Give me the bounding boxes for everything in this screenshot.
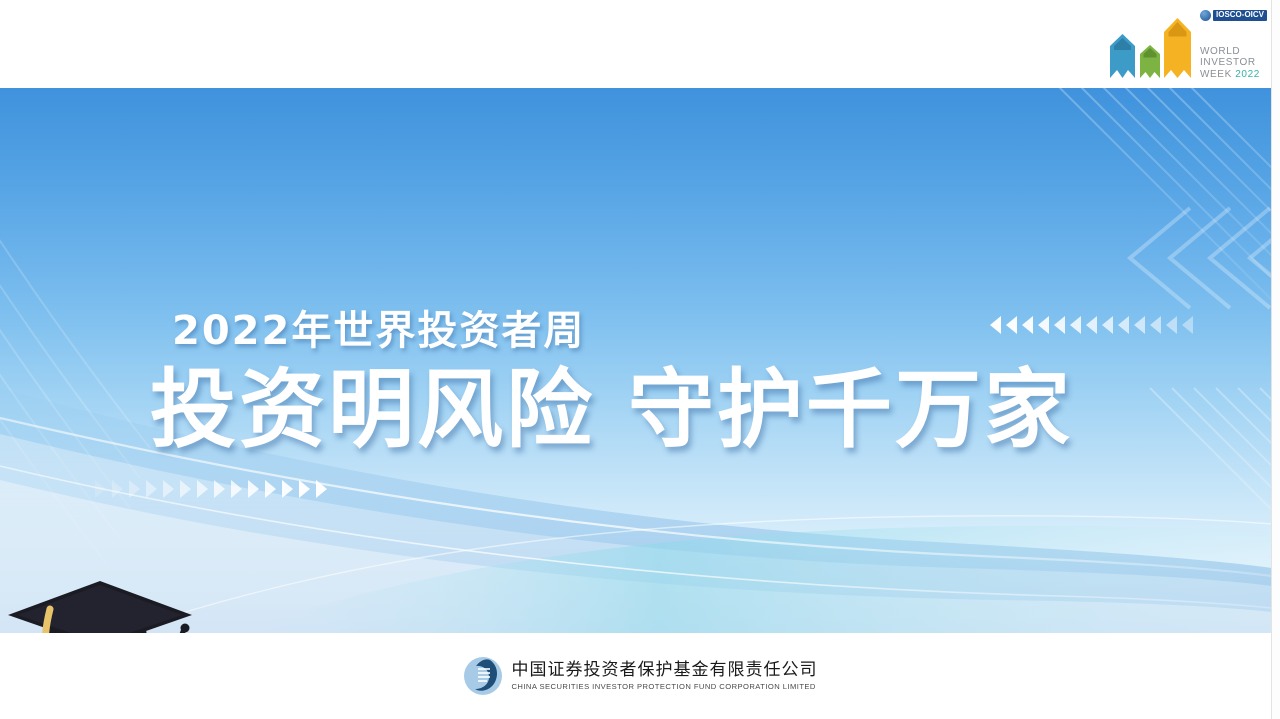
company-name-en: CHINA SECURITIES INVESTOR PROTECTION FUN… bbox=[512, 681, 818, 692]
mascot-teacher-illustration bbox=[0, 573, 206, 633]
world-investor-week-text: WORLD INVESTOR WEEK 2022 bbox=[1200, 46, 1270, 81]
chevron-right-icon bbox=[163, 480, 174, 498]
tassel bbox=[45, 609, 50, 633]
chevron-right-icon bbox=[282, 480, 293, 498]
company-logo-block: 中国证券投资者保护基金有限责任公司 CHINA SECURITIES INVES… bbox=[463, 656, 818, 696]
pencil-yellow-icon bbox=[1164, 18, 1191, 78]
chevron-row-left bbox=[990, 316, 1193, 334]
ghost-chevrons bbox=[1130, 208, 1272, 308]
chevron-right-icon bbox=[95, 480, 106, 498]
chevron-left-icon bbox=[1150, 316, 1161, 334]
chevron-right-icon bbox=[248, 480, 259, 498]
chevron-left-icon bbox=[1166, 316, 1177, 334]
banner-hero: 2022年世界投资者周 投资明风险 守护千万家 bbox=[0, 88, 1272, 633]
chevron-right-icon bbox=[316, 480, 327, 498]
chevron-right-icon bbox=[146, 480, 157, 498]
right-edge-strip bbox=[1271, 0, 1280, 719]
iosco-label: IOSCO-OICV bbox=[1213, 10, 1267, 21]
chevron-left-icon bbox=[1022, 316, 1033, 334]
chevron-left-icon bbox=[1118, 316, 1129, 334]
chevron-left-icon bbox=[1102, 316, 1113, 334]
chevron-right-icon bbox=[180, 480, 191, 498]
chevron-left-icon bbox=[990, 316, 1001, 334]
banner-subtitle: 2022年世界投资者周 bbox=[172, 298, 585, 356]
chevron-right-icon bbox=[129, 480, 140, 498]
globe-icon bbox=[1200, 10, 1211, 21]
chevron-right-icon bbox=[197, 480, 208, 498]
diagonal-stripes-right bbox=[1040, 88, 1272, 318]
chevron-right-icon bbox=[265, 480, 276, 498]
company-name-cn: 中国证券投资者保护基金有限责任公司 bbox=[512, 660, 818, 681]
wiw-week-word: WEEK bbox=[1200, 69, 1232, 80]
csipf-logo-icon bbox=[463, 656, 503, 696]
pencil-blue-icon bbox=[1110, 34, 1135, 78]
footer-bar: 中国证券投资者保护基金有限责任公司 CHINA SECURITIES INVES… bbox=[0, 633, 1280, 719]
world-investor-week-logo: IOSCO-OICV WORLD INVESTOR WEEK 2022 bbox=[1108, 4, 1270, 84]
chevron-left-icon bbox=[1134, 316, 1145, 334]
chevron-left-icon bbox=[1070, 316, 1081, 334]
iosco-mark: IOSCO-OICV bbox=[1200, 10, 1267, 21]
chevron-left-icon bbox=[1054, 316, 1065, 334]
chevron-row-right bbox=[95, 480, 327, 498]
chevron-right-icon bbox=[299, 480, 310, 498]
wiw-line-investor: INVESTOR bbox=[1200, 57, 1270, 69]
top-bar: IOSCO-OICV WORLD INVESTOR WEEK 2022 bbox=[0, 0, 1280, 88]
chevron-left-icon bbox=[1038, 316, 1049, 334]
banner-page: IOSCO-OICV WORLD INVESTOR WEEK 2022 bbox=[0, 0, 1280, 719]
chevron-right-icon bbox=[112, 480, 123, 498]
pencil-green-icon bbox=[1140, 45, 1160, 78]
chevron-left-icon bbox=[1006, 316, 1017, 334]
chevron-left-icon bbox=[1182, 316, 1193, 334]
chevron-right-icon bbox=[231, 480, 242, 498]
pencils-graphic bbox=[1108, 12, 1192, 84]
chevron-right-icon bbox=[214, 480, 225, 498]
banner-headline: 投资明风险 守护千万家 bbox=[150, 365, 1073, 455]
chevron-left-icon bbox=[1086, 316, 1097, 334]
company-name-block: 中国证券投资者保护基金有限责任公司 CHINA SECURITIES INVES… bbox=[512, 660, 818, 692]
wiw-line-week: WEEK 2022 bbox=[1200, 69, 1270, 81]
wiw-line-world: WORLD bbox=[1200, 46, 1270, 58]
wiw-year: 2022 bbox=[1235, 69, 1260, 80]
